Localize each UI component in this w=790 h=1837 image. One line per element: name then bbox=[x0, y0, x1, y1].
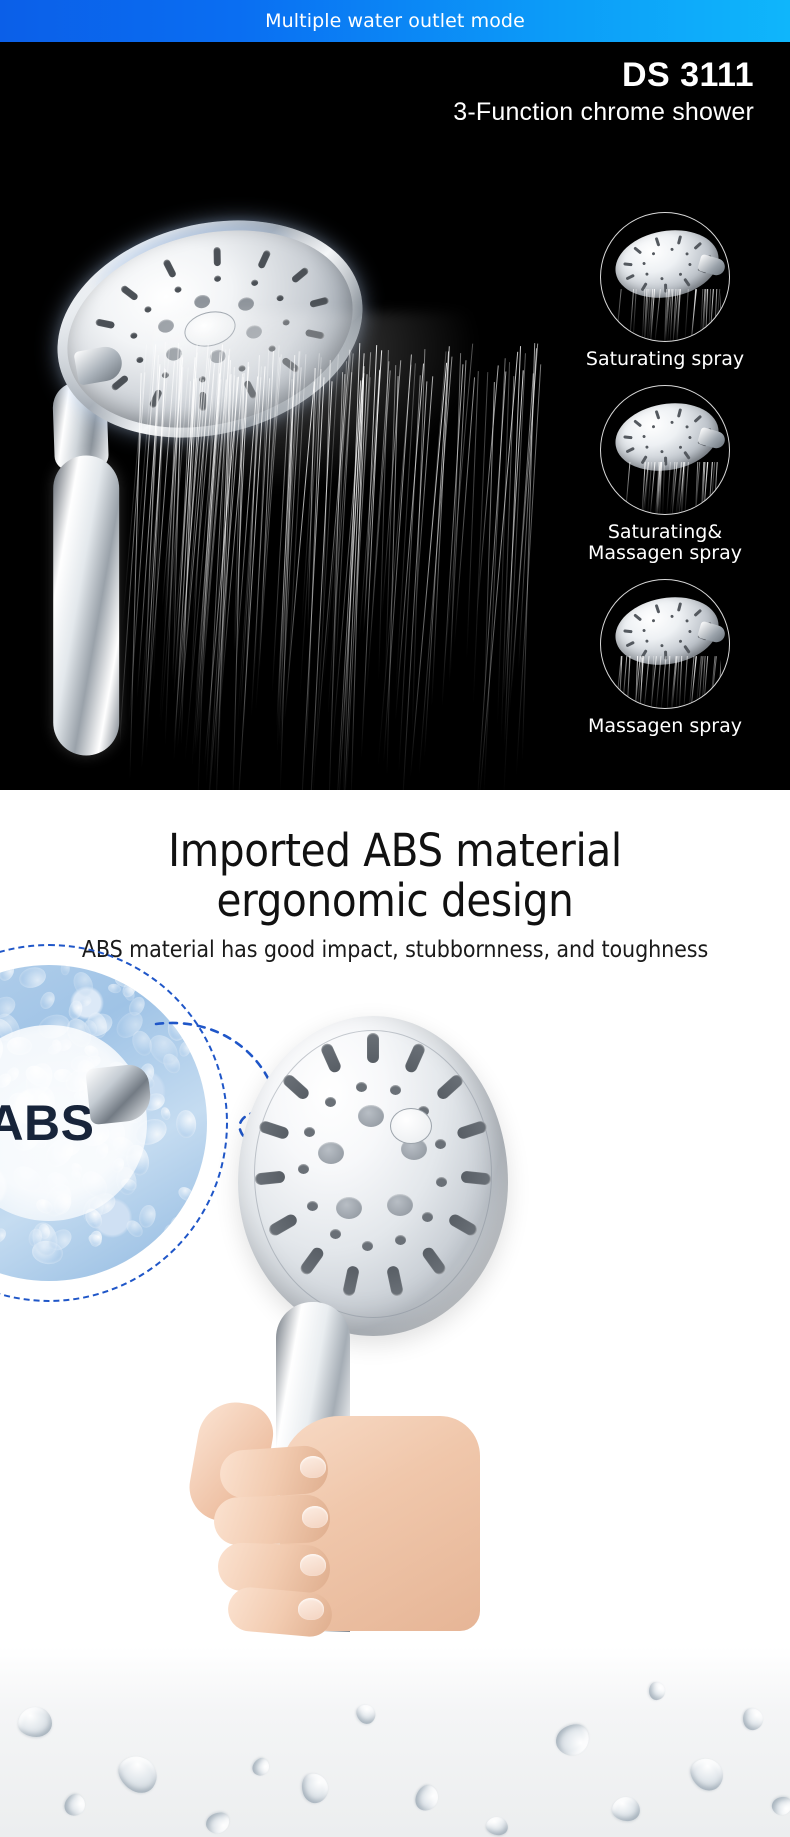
nail-2 bbox=[302, 1506, 328, 1528]
spray-mode-massage[interactable]: Massagen spray bbox=[560, 579, 770, 738]
abs-pellet bbox=[88, 1230, 102, 1248]
nozzle-jet bbox=[623, 262, 632, 266]
nozzle-jet bbox=[677, 235, 682, 244]
material-title-line1: Imported ABS material bbox=[0, 826, 790, 876]
nozzle-jet bbox=[626, 447, 635, 454]
top-banner: Multiple water outlet mode bbox=[0, 0, 790, 42]
shower-grip bbox=[53, 456, 119, 756]
material-section: Imported ABS material ergonomic design A… bbox=[0, 790, 790, 1837]
material-title-line2: ergonomic design bbox=[0, 876, 790, 926]
hand-holding-shower bbox=[150, 1356, 480, 1636]
water-droplet bbox=[298, 1770, 331, 1806]
shower-head-icon bbox=[600, 212, 730, 342]
water-stream bbox=[679, 656, 682, 709]
nozzle-dot bbox=[685, 619, 688, 622]
water-streams bbox=[120, 342, 550, 790]
water-droplet bbox=[769, 1794, 790, 1818]
spray-mode-label: Massagen spray bbox=[560, 716, 770, 738]
nozzle-dot bbox=[642, 435, 645, 438]
water-droplet bbox=[485, 1815, 510, 1837]
nozzle-dot bbox=[670, 615, 673, 618]
nail-1 bbox=[300, 1456, 326, 1478]
water-stream bbox=[684, 462, 689, 515]
water-stream bbox=[684, 289, 689, 342]
spray-mode-label: Saturating spray bbox=[560, 349, 770, 371]
nozzle-dot bbox=[661, 644, 664, 647]
nozzle-dot bbox=[689, 435, 692, 438]
water-stream bbox=[624, 462, 630, 515]
water-stream bbox=[643, 656, 649, 709]
nozzle-dot bbox=[661, 449, 664, 452]
water-droplet bbox=[18, 1707, 52, 1737]
water-droplet bbox=[112, 1748, 164, 1799]
nozzle-dot bbox=[304, 1127, 315, 1137]
nozzle-jet bbox=[654, 237, 660, 246]
nozzle-dot bbox=[689, 262, 692, 265]
water-stream bbox=[627, 656, 631, 709]
nozzle-dot bbox=[652, 252, 655, 255]
spray-mode-saturating[interactable]: Saturating spray bbox=[560, 212, 770, 371]
spray-mode-label-line1: Saturating& bbox=[608, 521, 722, 543]
nozzle-jet bbox=[683, 451, 691, 460]
nozzle-dot bbox=[642, 629, 645, 632]
nozzle-dot bbox=[435, 1139, 446, 1149]
nozzle-dot bbox=[395, 1235, 406, 1245]
spray-mode-list: Saturating spray Saturating& Massagen sp… bbox=[560, 212, 770, 752]
nozzle-jet bbox=[694, 414, 703, 422]
shower-head-icon bbox=[600, 579, 730, 709]
nozzle-dot bbox=[678, 445, 681, 448]
nozzle-jet bbox=[694, 241, 703, 249]
nozzle-dot bbox=[307, 1201, 318, 1211]
abs-pellet bbox=[137, 1203, 158, 1229]
water-droplet bbox=[551, 1718, 596, 1761]
nozzle-dot bbox=[670, 248, 673, 251]
nozzle-dot bbox=[642, 262, 645, 265]
nozzle-dot bbox=[362, 1241, 373, 1251]
nozzle-pad bbox=[336, 1197, 362, 1219]
water-stream bbox=[666, 656, 670, 709]
water-stream bbox=[661, 656, 667, 709]
nozzle-jet bbox=[214, 247, 221, 266]
water-droplet bbox=[684, 1751, 729, 1796]
nozzle-jet bbox=[634, 419, 643, 427]
nail-3 bbox=[300, 1554, 326, 1576]
abs-pellet bbox=[0, 965, 17, 983]
mode-water-2 bbox=[617, 462, 721, 515]
water-droplets-background bbox=[0, 1647, 790, 1837]
abs-label: ABS bbox=[0, 1094, 95, 1152]
nozzle-pad bbox=[358, 1105, 384, 1127]
product-head-inner-ring bbox=[254, 1030, 492, 1318]
nozzle-jet bbox=[683, 278, 691, 287]
product-shower-head bbox=[238, 1016, 508, 1336]
water-stream bbox=[120, 372, 145, 765]
water-droplet bbox=[250, 1755, 273, 1779]
abs-pellet bbox=[61, 965, 71, 975]
water-droplet bbox=[611, 1796, 641, 1822]
nozzle-jet bbox=[626, 641, 635, 648]
water-stream bbox=[683, 656, 688, 709]
water-stream bbox=[662, 462, 665, 515]
nozzle-jet bbox=[367, 1033, 379, 1063]
nozzle-dot bbox=[330, 1229, 341, 1239]
nozzle-dot bbox=[422, 1212, 433, 1222]
nozzle-jet bbox=[634, 247, 643, 255]
water-droplet bbox=[412, 1782, 442, 1814]
nozzle-dot bbox=[390, 1085, 401, 1095]
nozzle-dot bbox=[689, 629, 692, 632]
nozzle-jet bbox=[683, 645, 691, 654]
water-stream bbox=[654, 289, 661, 342]
nozzle-dot bbox=[678, 639, 681, 642]
product-model: DS 3111 bbox=[453, 56, 754, 95]
spray-mode-label-line2: Massagen spray bbox=[588, 542, 742, 564]
water-droplet bbox=[203, 1809, 233, 1837]
nozzle-jet bbox=[694, 608, 703, 616]
nozzle-dot bbox=[298, 1164, 309, 1174]
nozzle-jet bbox=[623, 435, 632, 439]
nozzle-dot bbox=[685, 425, 688, 428]
hero-section: DS 3111 3-Function chrome shower Saturat… bbox=[0, 42, 790, 790]
water-droplet bbox=[61, 1791, 89, 1820]
nozzle-dot bbox=[652, 619, 655, 622]
water-stream bbox=[617, 289, 621, 342]
nozzle-jet bbox=[677, 602, 682, 611]
material-title: Imported ABS material ergonomic design bbox=[0, 826, 790, 925]
mode-water-3 bbox=[617, 656, 721, 709]
water-droplet bbox=[353, 1701, 380, 1728]
nozzle-jet bbox=[654, 409, 660, 418]
abs-pellet bbox=[0, 1226, 9, 1246]
spray-mode-label: Saturating& Massagen spray bbox=[560, 522, 770, 565]
abs-pellet bbox=[70, 969, 96, 999]
product-center-port bbox=[390, 1108, 432, 1144]
nozzle-dot bbox=[661, 277, 664, 280]
abs-pellet bbox=[38, 990, 57, 1011]
spray-mode-saturating-massage[interactable]: Saturating& Massagen spray bbox=[560, 385, 770, 565]
nozzle-jet bbox=[623, 629, 632, 633]
nozzle-dot bbox=[645, 272, 648, 275]
abs-pellet bbox=[16, 965, 48, 991]
water-stream bbox=[655, 656, 661, 709]
mode-water-1 bbox=[617, 289, 721, 342]
nozzle-dot bbox=[652, 425, 655, 428]
nozzle-jet bbox=[677, 408, 682, 417]
nozzle-jet bbox=[634, 614, 643, 622]
nozzle-jet bbox=[626, 274, 635, 281]
shower-head-icon bbox=[600, 385, 730, 515]
nozzle-dot bbox=[645, 445, 648, 448]
nozzle-pad bbox=[318, 1142, 344, 1164]
water-droplet bbox=[741, 1706, 765, 1731]
nozzle-dot bbox=[685, 252, 688, 255]
banner-title: Multiple water outlet mode bbox=[265, 10, 525, 32]
nail-4 bbox=[298, 1598, 324, 1620]
hero-title-block: DS 3111 3-Function chrome shower bbox=[453, 56, 754, 127]
nozzle-dot bbox=[670, 421, 673, 424]
nozzle-dot bbox=[645, 639, 648, 642]
nozzle-dot bbox=[436, 1177, 447, 1187]
product-subtitle: 3-Function chrome shower bbox=[453, 97, 754, 127]
nozzle-dot bbox=[678, 273, 681, 276]
water-droplet bbox=[648, 1681, 666, 1701]
water-stream bbox=[717, 656, 721, 709]
nozzle-jet bbox=[654, 604, 660, 613]
